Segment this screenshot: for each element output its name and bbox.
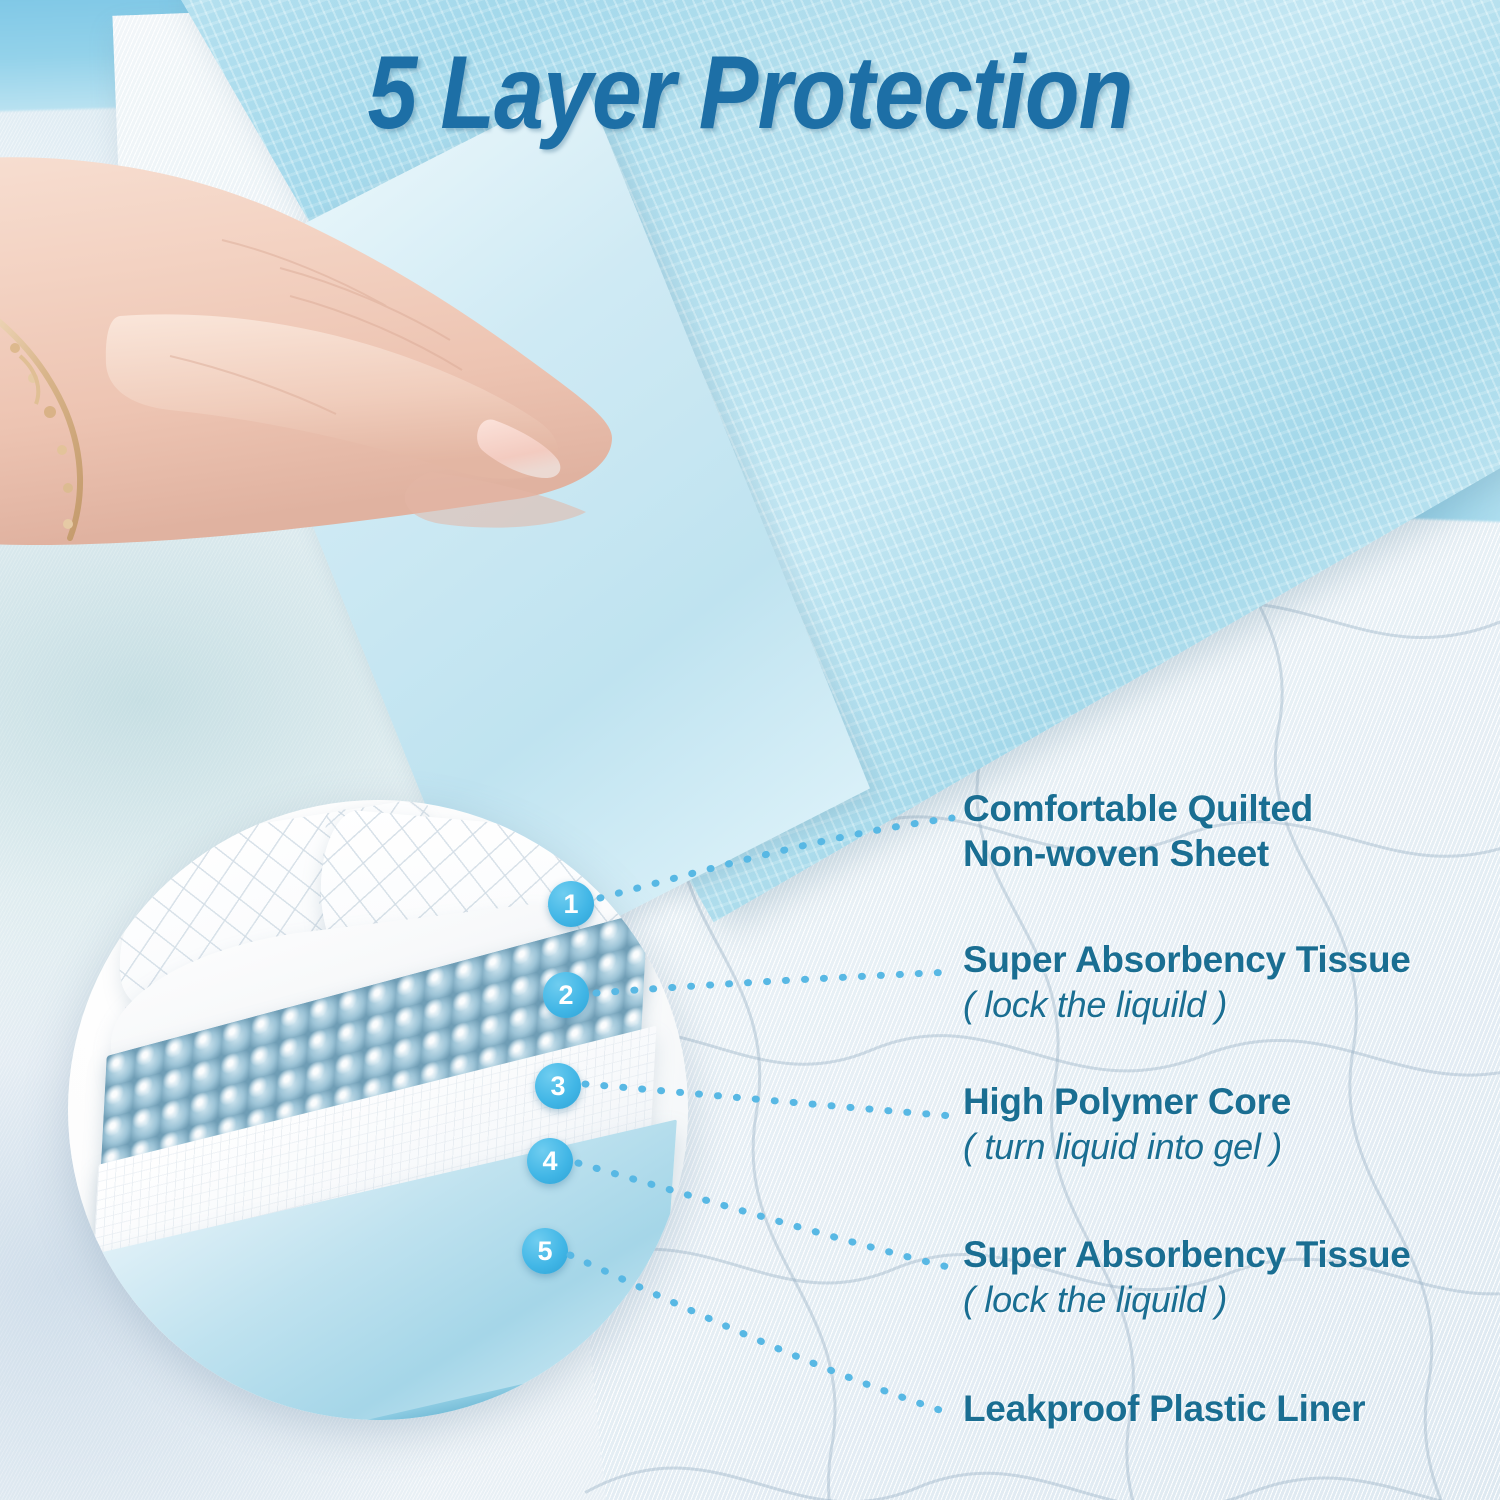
layer-badge-2: 2 (543, 972, 589, 1018)
layer-badge-5: 5 (522, 1228, 568, 1274)
layer-label-1: Comfortable Quilted Non-woven Sheet (963, 786, 1313, 876)
layer-label-2: Super Absorbency Tissue ( lock the liqui… (963, 937, 1411, 1028)
layer-label-4-line1: Super Absorbency Tissue (963, 1232, 1411, 1277)
layer-label-2-note: ( lock the liquild ) (963, 982, 1411, 1028)
product-infographic: 5 Layer Protection 1 2 3 4 5 Comfortable… (0, 0, 1500, 1500)
layer-label-3-note: ( turn liquid into gel ) (963, 1124, 1291, 1170)
hand-holding-pad (0, 120, 850, 600)
layer-label-3-line1: High Polymer Core (963, 1079, 1291, 1124)
layer-label-2-line1: Super Absorbency Tissue (963, 937, 1411, 982)
layer-diagram-circle (68, 800, 688, 1420)
layer-label-5: Leakproof Plastic Liner (963, 1386, 1365, 1431)
layer-label-column: Comfortable Quilted Non-woven Sheet Supe… (963, 0, 1500, 1500)
layer-label-1-line1: Comfortable Quilted (963, 786, 1313, 831)
layer-label-1-line2: Non-woven Sheet (963, 831, 1313, 876)
layer-badge-1: 1 (548, 881, 594, 927)
layer-label-4: Super Absorbency Tissue ( lock the liqui… (963, 1232, 1411, 1323)
layer-label-4-note: ( lock the liquild ) (963, 1277, 1411, 1323)
layer-label-3: High Polymer Core ( turn liquid into gel… (963, 1079, 1291, 1170)
layer-label-5-line1: Leakproof Plastic Liner (963, 1386, 1365, 1431)
layer-badge-4: 4 (527, 1138, 573, 1184)
layer-badge-3: 3 (535, 1063, 581, 1109)
